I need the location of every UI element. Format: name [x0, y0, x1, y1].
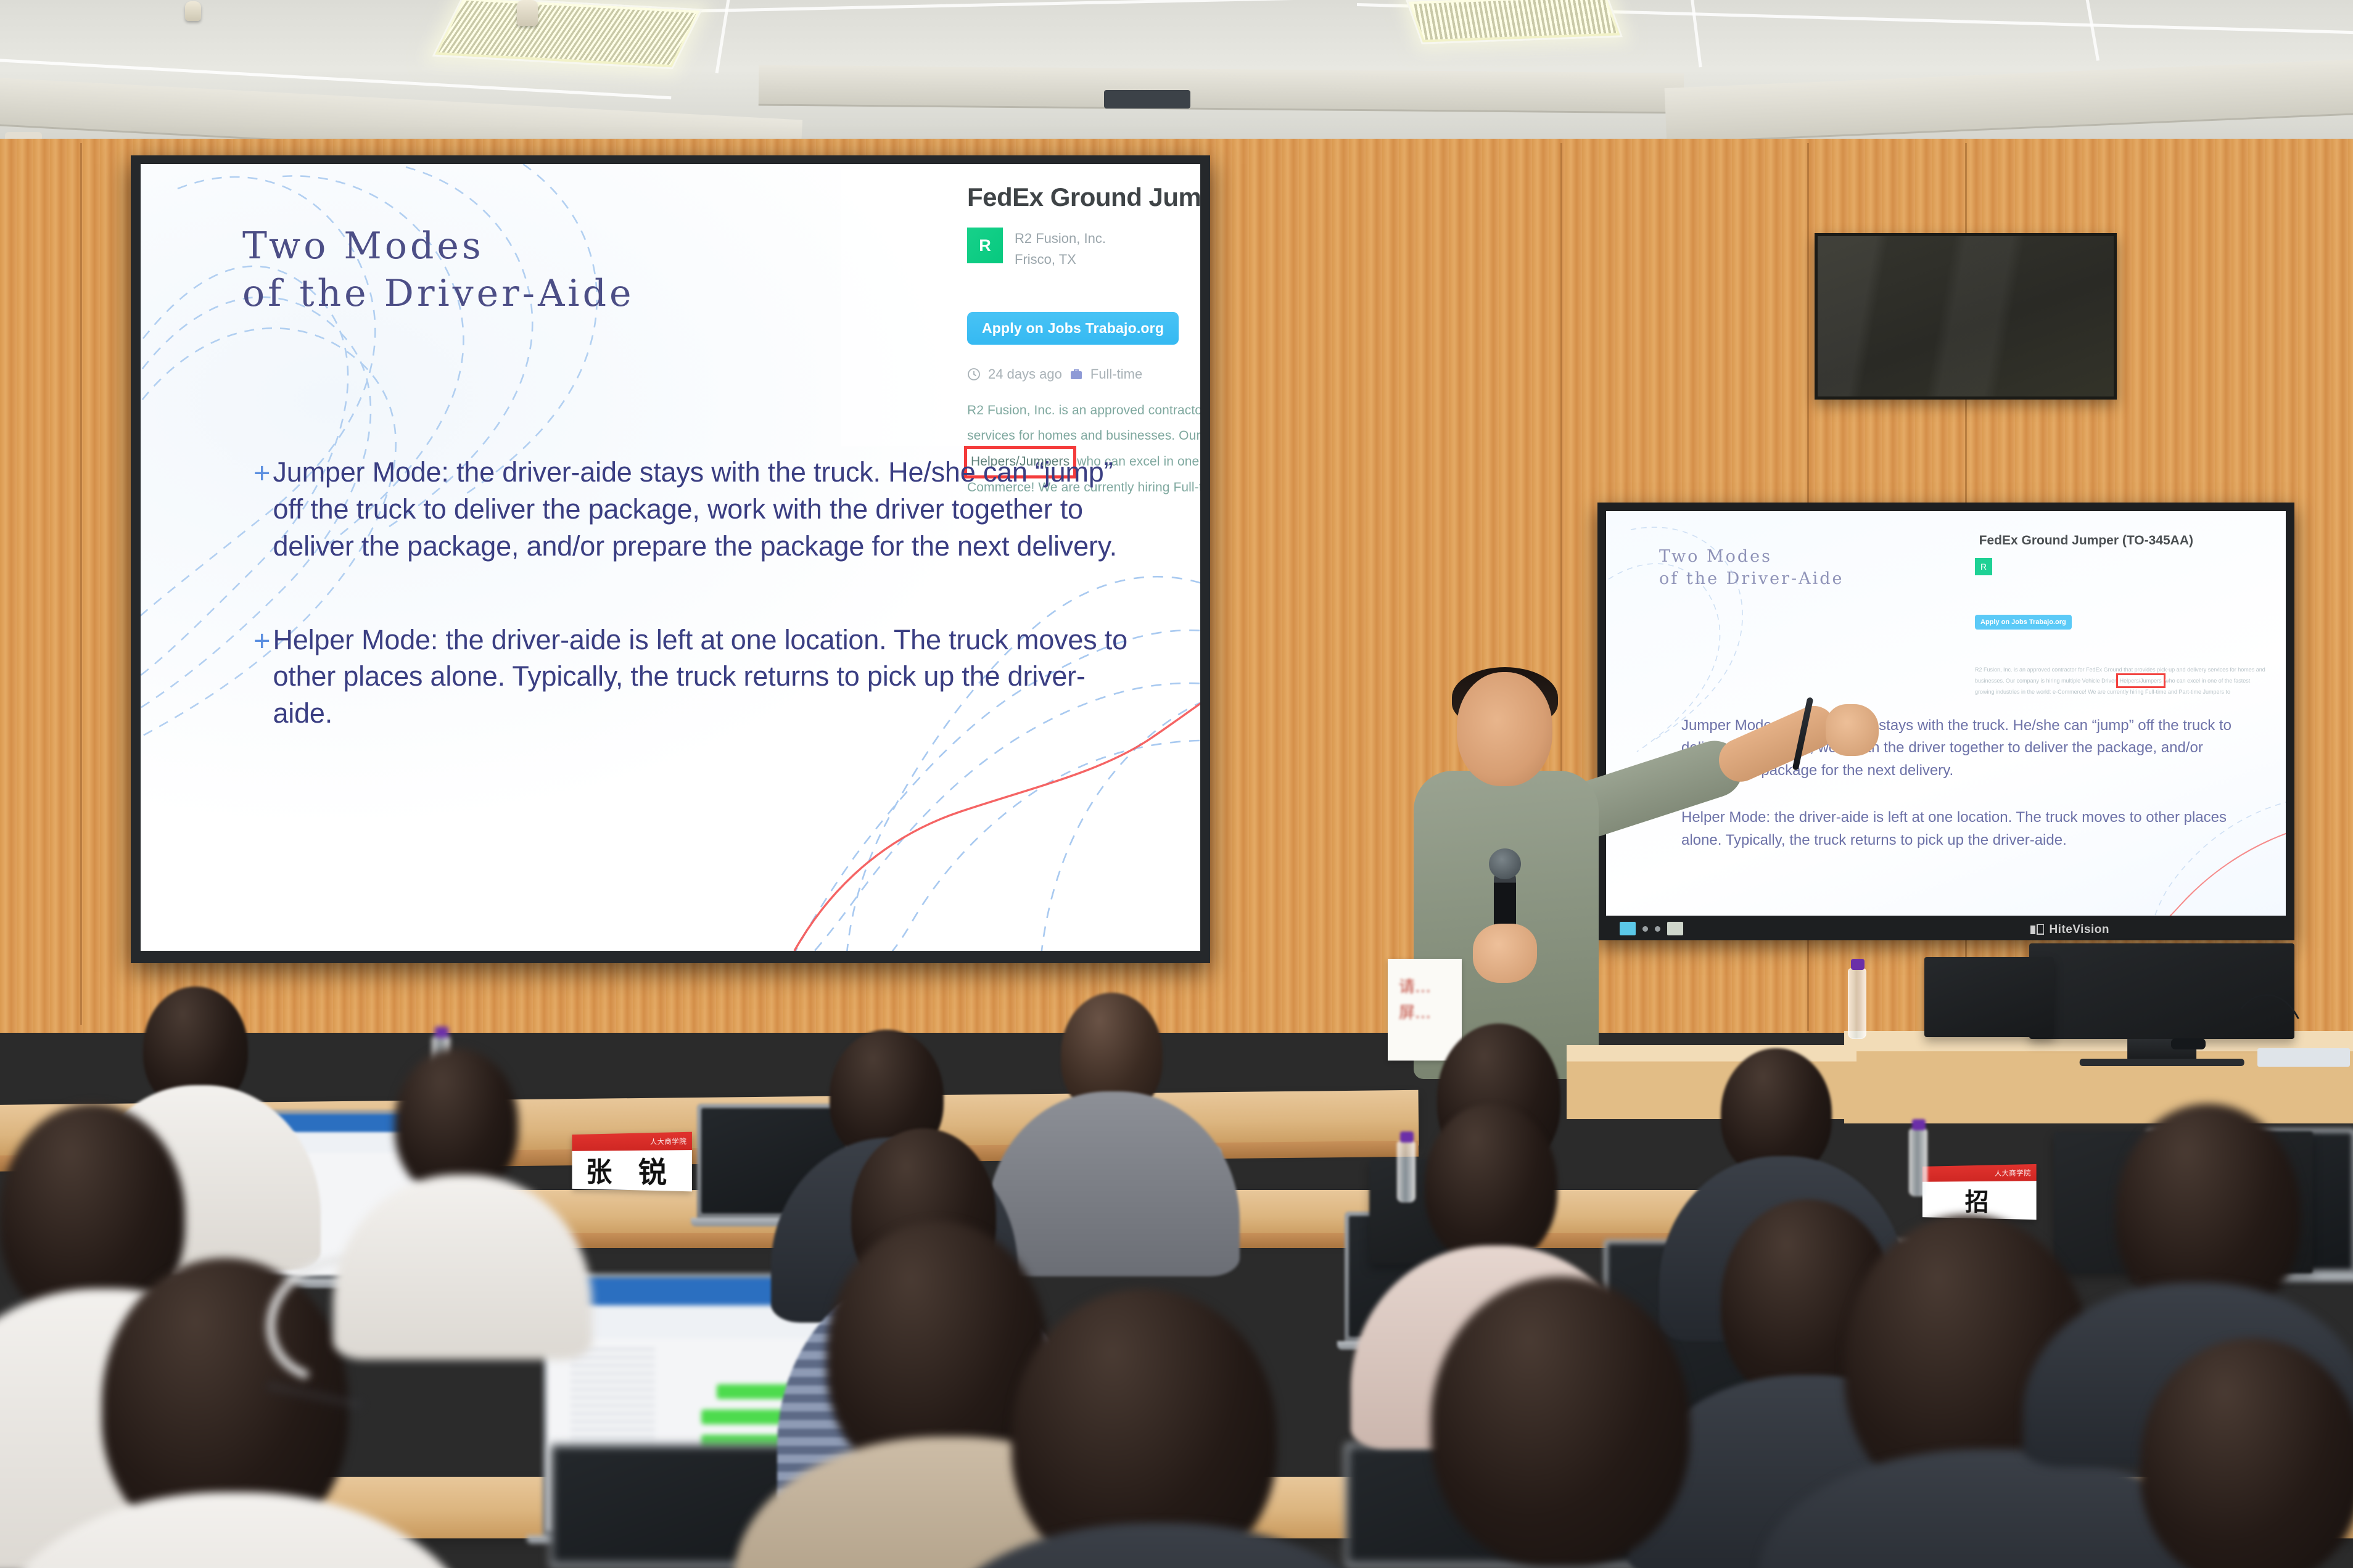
panel-highlighted-term: Helpers/Jumpers — [2118, 675, 2164, 686]
podium-monitor-secondary[interactable] — [1924, 957, 2054, 1037]
name-placard-zhang-rui: 人大商学院 张 锐 — [572, 1132, 692, 1192]
posted-date: 24 days ago — [988, 366, 1062, 382]
presenter-head — [1457, 672, 1552, 786]
placard-name: 招 — [1922, 1181, 2037, 1220]
bullet-item-jumper-mode: + Jumper Mode: the driver-aide stays wit… — [253, 454, 1129, 565]
job-description-part1: R2 Fusion, Inc. is an approved contracto… — [967, 403, 1200, 443]
smoke-detector-icon — [185, 1, 201, 21]
panel-bullet-helper: Helper Mode: the driver-aide is left at … — [1681, 807, 2240, 852]
slide-bullet-list: + Jumper Mode: the driver-aide stays wit… — [253, 454, 1129, 789]
ceiling-light-icon — [1406, 0, 1623, 44]
slide-title: Two Modes of the Driver-Aide — [242, 223, 635, 318]
panel-slide-title: Two Modes of the Driver-Aide — [1659, 546, 1844, 591]
briefcase-icon — [1069, 368, 1083, 380]
presenter-mic-hand — [1473, 924, 1537, 983]
bullet-marker-icon: + — [253, 454, 270, 565]
job-posting-card: FedEx Ground Jumper (TO-345AA) SAVE — [841, 169, 1200, 446]
audience-head — [1431, 1276, 1690, 1566]
name-placard-secondary: 人大商学院 招 — [1922, 1164, 2037, 1220]
bullet-item-helper-mode: + Helper Mode: the driver-aide is left a… — [253, 622, 1129, 733]
job-title: FedEx Ground Jumper (TO-345AA) — [967, 183, 1200, 212]
presentation-slide: Two Modes of the Driver-Aide FedEx Groun… — [141, 164, 1200, 951]
water-bottle[interactable] — [1909, 1128, 1927, 1196]
bullet-text: Jumper Mode: the driver-aide stays with … — [273, 454, 1129, 565]
panel-indicator-gray — [1667, 922, 1683, 935]
main-projection-screen[interactable]: Two Modes of the Driver-Aide FedEx Groun… — [131, 155, 1210, 963]
remote-control[interactable] — [2171, 1038, 2206, 1049]
ceiling — [0, 0, 2353, 154]
bullet-marker-icon: + — [253, 622, 270, 733]
company-info: R2 Fusion, Inc. Frisco, TX — [1015, 228, 1106, 270]
job-meta: 24 days ago Full-time — [967, 366, 1142, 382]
water-bottle[interactable] — [1397, 1141, 1416, 1202]
company-name: R2 Fusion, Inc. — [1015, 228, 1106, 249]
clock-icon — [967, 367, 981, 381]
apply-button[interactable]: Apply on Jobs Trabajo.org — [967, 312, 1179, 345]
placard-org-logo: 人大商学院 — [650, 1136, 686, 1146]
smoke-detector-icon — [517, 0, 538, 26]
panel-mirrored-slide: Two Modes of the Driver-Aide FedEx Groun… — [1606, 511, 2286, 916]
company-location: Frisco, TX — [1015, 249, 1106, 270]
placard-header: 人大商学院 — [1922, 1164, 2037, 1182]
lecture-hall-scene: Two Modes of the Driver-Aide FedEx Groun… — [0, 0, 2353, 1568]
audience-head — [395, 1048, 518, 1196]
company-logo: R — [967, 228, 1003, 263]
placard-org-logo: 人大商学院 — [1995, 1167, 2031, 1178]
ceiling-light-icon — [432, 0, 703, 69]
panel-job-description: R2 Fusion, Inc. is an approved contracto… — [1975, 664, 2271, 697]
projector-box — [1104, 90, 1190, 109]
panel-brand-label: HiteVision — [2030, 923, 2109, 937]
panel-job-title: FedEx Ground Jumper (TO-345AA) — [1979, 533, 2193, 548]
water-bottle[interactable] — [1848, 968, 1866, 1039]
brand-text: HiteVision — [2049, 923, 2109, 937]
wall-notice-sign: 请… 屏… — [1388, 959, 1462, 1061]
tv-screen-glare — [1818, 236, 2114, 396]
hitevision-logo-icon — [2030, 924, 2044, 935]
bullet-text: Helper Mode: the driver-aide is left at … — [273, 622, 1129, 733]
panel-apply-button[interactable]: Apply on Jobs Trabajo.org — [1975, 615, 2072, 630]
audience-head — [1425, 1104, 1557, 1264]
employment-type: Full-time — [1090, 366, 1142, 382]
placard-name: 张 锐 — [572, 1150, 692, 1192]
monitor-foot — [2080, 1059, 2244, 1066]
interactive-flat-panel[interactable]: Two Modes of the Driver-Aide FedEx Groun… — [1597, 503, 2294, 940]
wall-mounted-tv[interactable] — [1815, 233, 2117, 400]
panel-company-logo: R — [1975, 558, 1992, 575]
presenter-pointing-hand — [1826, 704, 1879, 756]
wall-notice-text: 请… 屏… — [1388, 959, 1462, 1026]
placard-header: 人大商学院 — [572, 1132, 692, 1151]
